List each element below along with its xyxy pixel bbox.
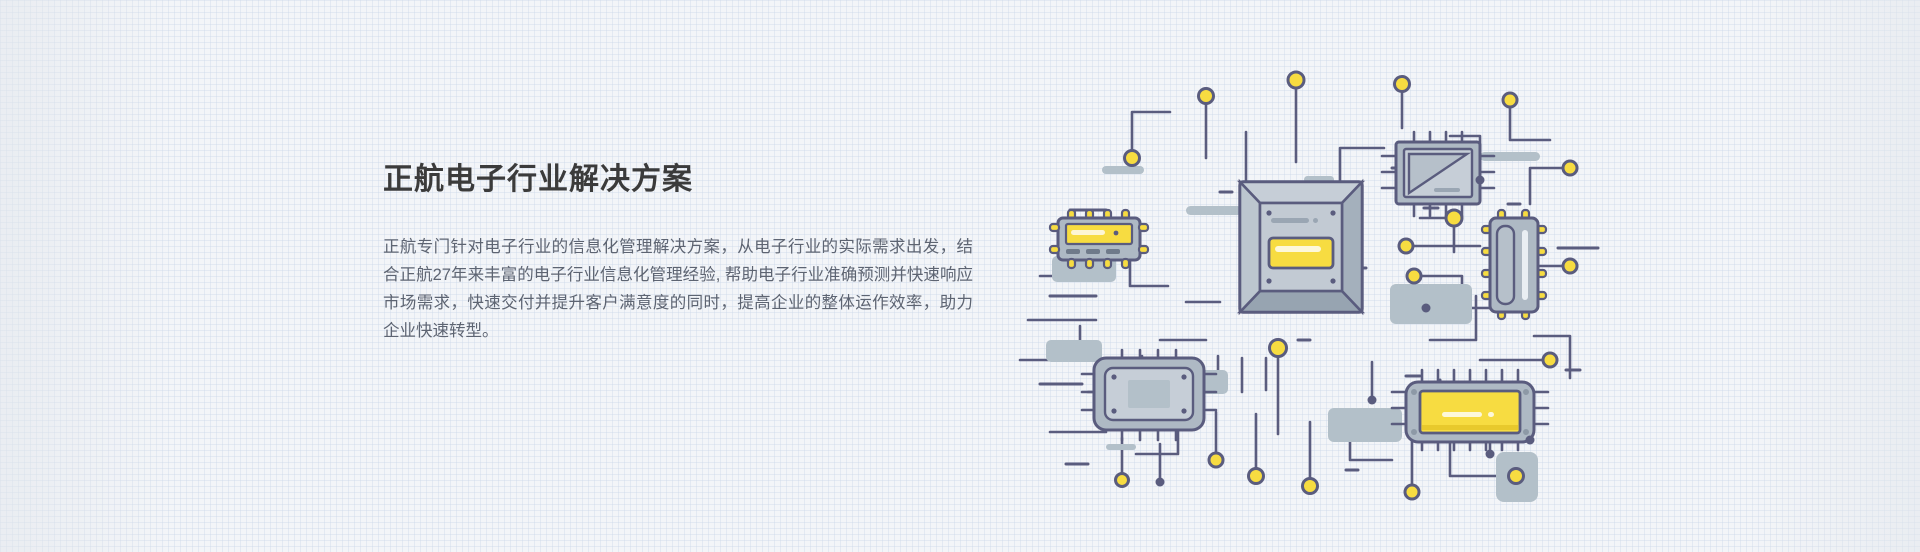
chip-left <box>1050 210 1148 268</box>
cpu-main <box>1240 182 1362 312</box>
page-description: 正航专门针对电子行业的信息化管理解决方案，从电子行业的实际需求出发，结合正航27… <box>383 200 973 345</box>
chip-bottom-right <box>1392 370 1548 450</box>
banner-text-block: 正航电子行业解决方案 正航专门针对电子行业的信息化管理解决方案，从电子行业的实际… <box>383 160 983 345</box>
chip-bottom-left <box>1082 350 1216 440</box>
hero-banner: 正航电子行业解决方案 正航专门针对电子行业的信息化管理解决方案，从电子行业的实际… <box>0 0 1920 552</box>
circuit-board-illustration <box>1010 40 1610 520</box>
chip-right <box>1482 210 1546 319</box>
chip-top-right <box>1382 132 1494 216</box>
page-title: 正航电子行业解决方案 <box>383 160 983 200</box>
